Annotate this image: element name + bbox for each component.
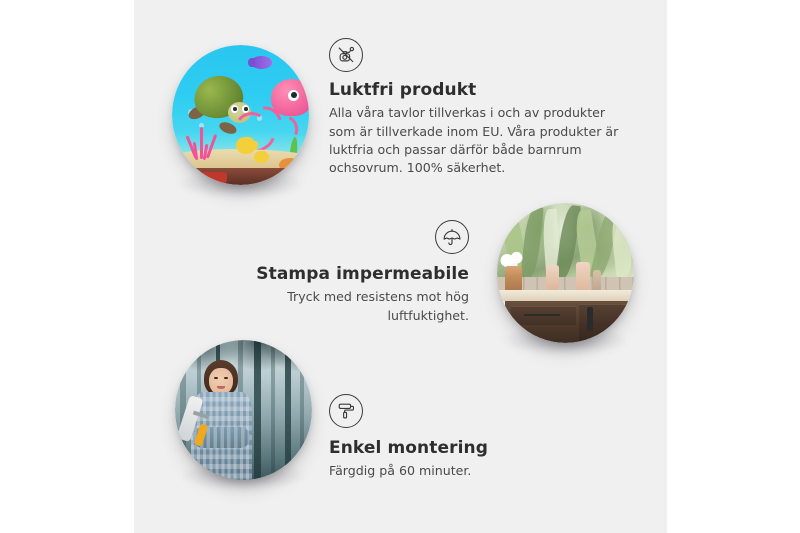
feature-text-waterproof: Stampa impermeabile Tryck med resistens … [205, 264, 469, 325]
feature-title-waterproof: Stampa impermeabile [205, 264, 469, 285]
product-feature-banner: Luktfri produkt Alla våra tavlor tillver… [0, 0, 800, 533]
feature-title-easy-mounting: Enkel montering [329, 438, 619, 459]
vanity [505, 301, 634, 343]
umbrella-icon [435, 220, 469, 254]
coral [183, 123, 221, 162]
fish-purple [251, 56, 272, 69]
no-fragrance-spray-bottle-icon [329, 38, 363, 72]
woman-face [209, 368, 232, 395]
underwater-kids-scene-photo [172, 45, 309, 185]
feature-text-odourless: Luktfri produkt Alla våra tavlor tillver… [329, 82, 619, 177]
feature-title-odourless: Luktfri produkt [329, 80, 619, 101]
feature-body-waterproof: Tryck med resistens mot hög luftfuktighe… [205, 288, 469, 325]
feature-text-easy-mounting: Enkel montering Färgdig på 60 minuter. [329, 438, 619, 481]
feature-body-odourless: Alla våra tavlor tillverkas i och av pro… [329, 104, 619, 177]
bathroom-tropical-wallpaper-photo [497, 203, 634, 343]
woman-paint-roller-forest-photo [175, 340, 312, 480]
feature-body-easy-mounting: Färgdig på 60 minuter. [329, 462, 619, 480]
paint-roller-icon [329, 394, 363, 428]
